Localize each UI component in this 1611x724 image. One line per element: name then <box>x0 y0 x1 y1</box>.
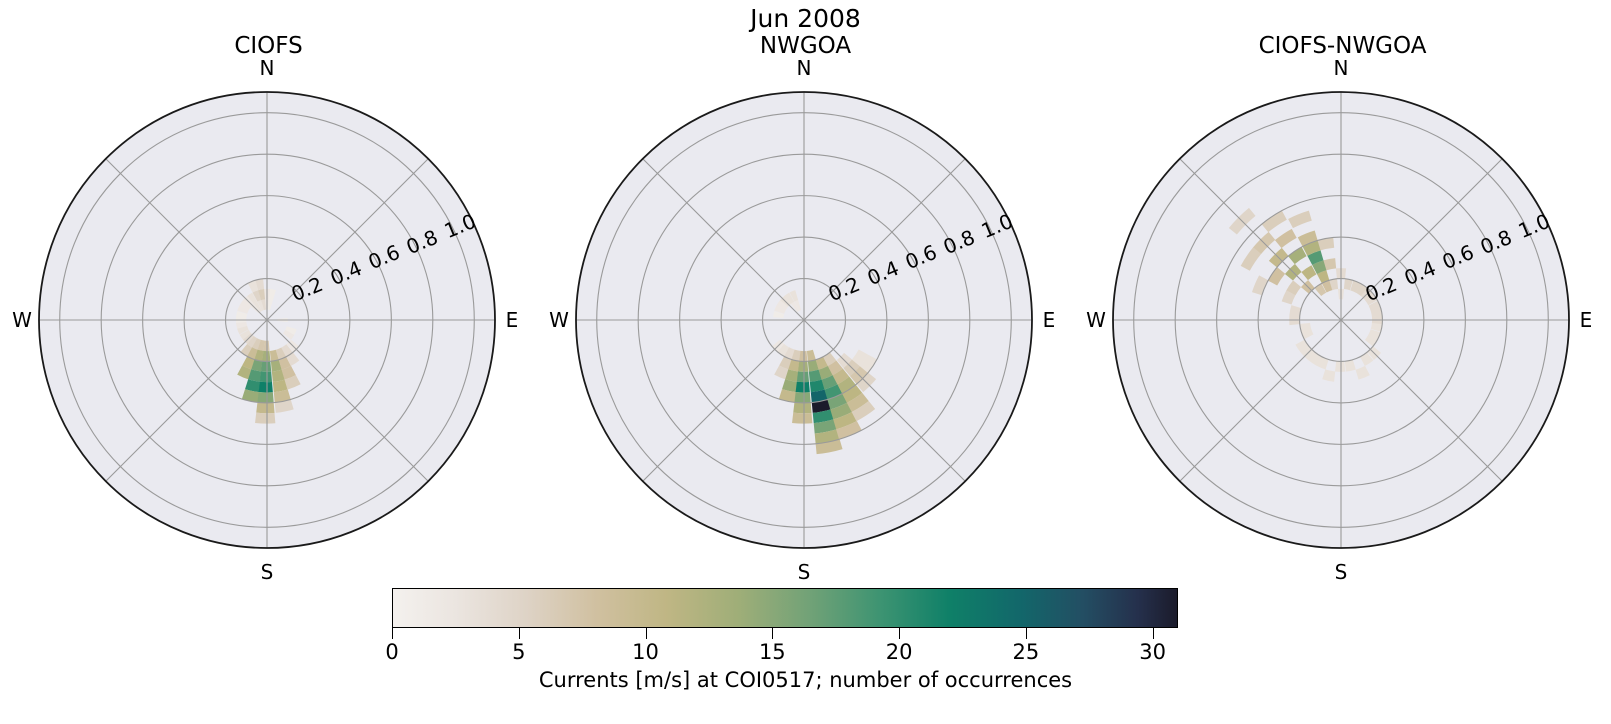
rose-bin <box>262 351 270 362</box>
rose-bin <box>255 413 275 424</box>
compass-label-east: E <box>506 309 519 331</box>
polar-axes <box>537 0 1074 600</box>
polar-plot-area: NSEW0.20.40.60.81.0 <box>1074 0 1611 600</box>
rose-bin <box>261 361 271 372</box>
compass-label-north: N <box>797 57 812 79</box>
colorbar-tick-label: 5 <box>512 640 525 664</box>
colorbar-tick <box>1026 628 1027 639</box>
compass-label-north: N <box>1334 57 1349 79</box>
compass-label-south: S <box>261 561 274 583</box>
compass-label-east: E <box>1043 309 1056 331</box>
colorbar-tick-label: 25 <box>1012 640 1039 664</box>
compass-label-south: S <box>798 561 811 583</box>
polar-plot-area: NSEW0.20.40.60.81.0 <box>537 0 1074 600</box>
rose-bin <box>797 371 809 382</box>
colorbar-tick-label: 15 <box>759 640 786 664</box>
colorbar-tick <box>899 628 900 639</box>
rose-bin <box>793 402 811 413</box>
rose-bin <box>256 402 274 413</box>
colorbar-label: Currents [m/s] at COI0517; number of occ… <box>0 668 1611 693</box>
colorbar-gradient <box>393 589 1177 627</box>
rose-bin <box>792 413 812 424</box>
colorbar-tick <box>646 628 647 639</box>
colorbar-tick <box>392 628 393 639</box>
polar-panel-ciofs: CIOFS NSEW0.20.40.60.81.0 <box>0 0 537 600</box>
polar-panel-ciofs-minus-nwgoa: CIOFS-NWGOA NSEW0.20.40.60.81.0 <box>1074 0 1611 600</box>
polar-panel-nwgoa: NWGOA NSEW0.20.40.60.81.0 <box>537 0 1074 600</box>
polar-plot-area: NSEW0.20.40.60.81.0 <box>0 0 537 600</box>
colorbar-tick <box>519 628 520 639</box>
colorbar-tick-label: 30 <box>1139 640 1166 664</box>
colorbar-tick <box>772 628 773 639</box>
colorbar-tick-label: 0 <box>385 640 398 664</box>
compass-label-south: S <box>1335 561 1348 583</box>
rose-bin <box>257 392 273 403</box>
rose-bin <box>796 382 810 393</box>
rose-bin <box>799 351 807 362</box>
polar-axes <box>0 0 537 600</box>
colorbar-tick-label: 20 <box>886 640 913 664</box>
colorbar-ticks: 051015202530 <box>392 628 1178 642</box>
rose-bin <box>1335 361 1345 372</box>
compass-label-east: E <box>1580 309 1593 331</box>
compass-label-north: N <box>260 57 275 79</box>
colorbar-tick <box>1153 628 1154 639</box>
rose-bin <box>260 371 272 382</box>
compass-label-west: W <box>12 309 32 331</box>
rose-bin <box>259 382 273 393</box>
polar-axes <box>1074 0 1611 600</box>
rose-bin <box>798 361 808 372</box>
rose-bin <box>794 392 810 403</box>
figure-canvas: Jun 2008 CIOFS NSEW0.20.40.60.81.0 NWGOA… <box>0 0 1611 724</box>
colorbar <box>392 588 1178 628</box>
compass-label-west: W <box>549 309 569 331</box>
colorbar-tick-label: 10 <box>632 640 659 664</box>
compass-label-west: W <box>1086 309 1106 331</box>
